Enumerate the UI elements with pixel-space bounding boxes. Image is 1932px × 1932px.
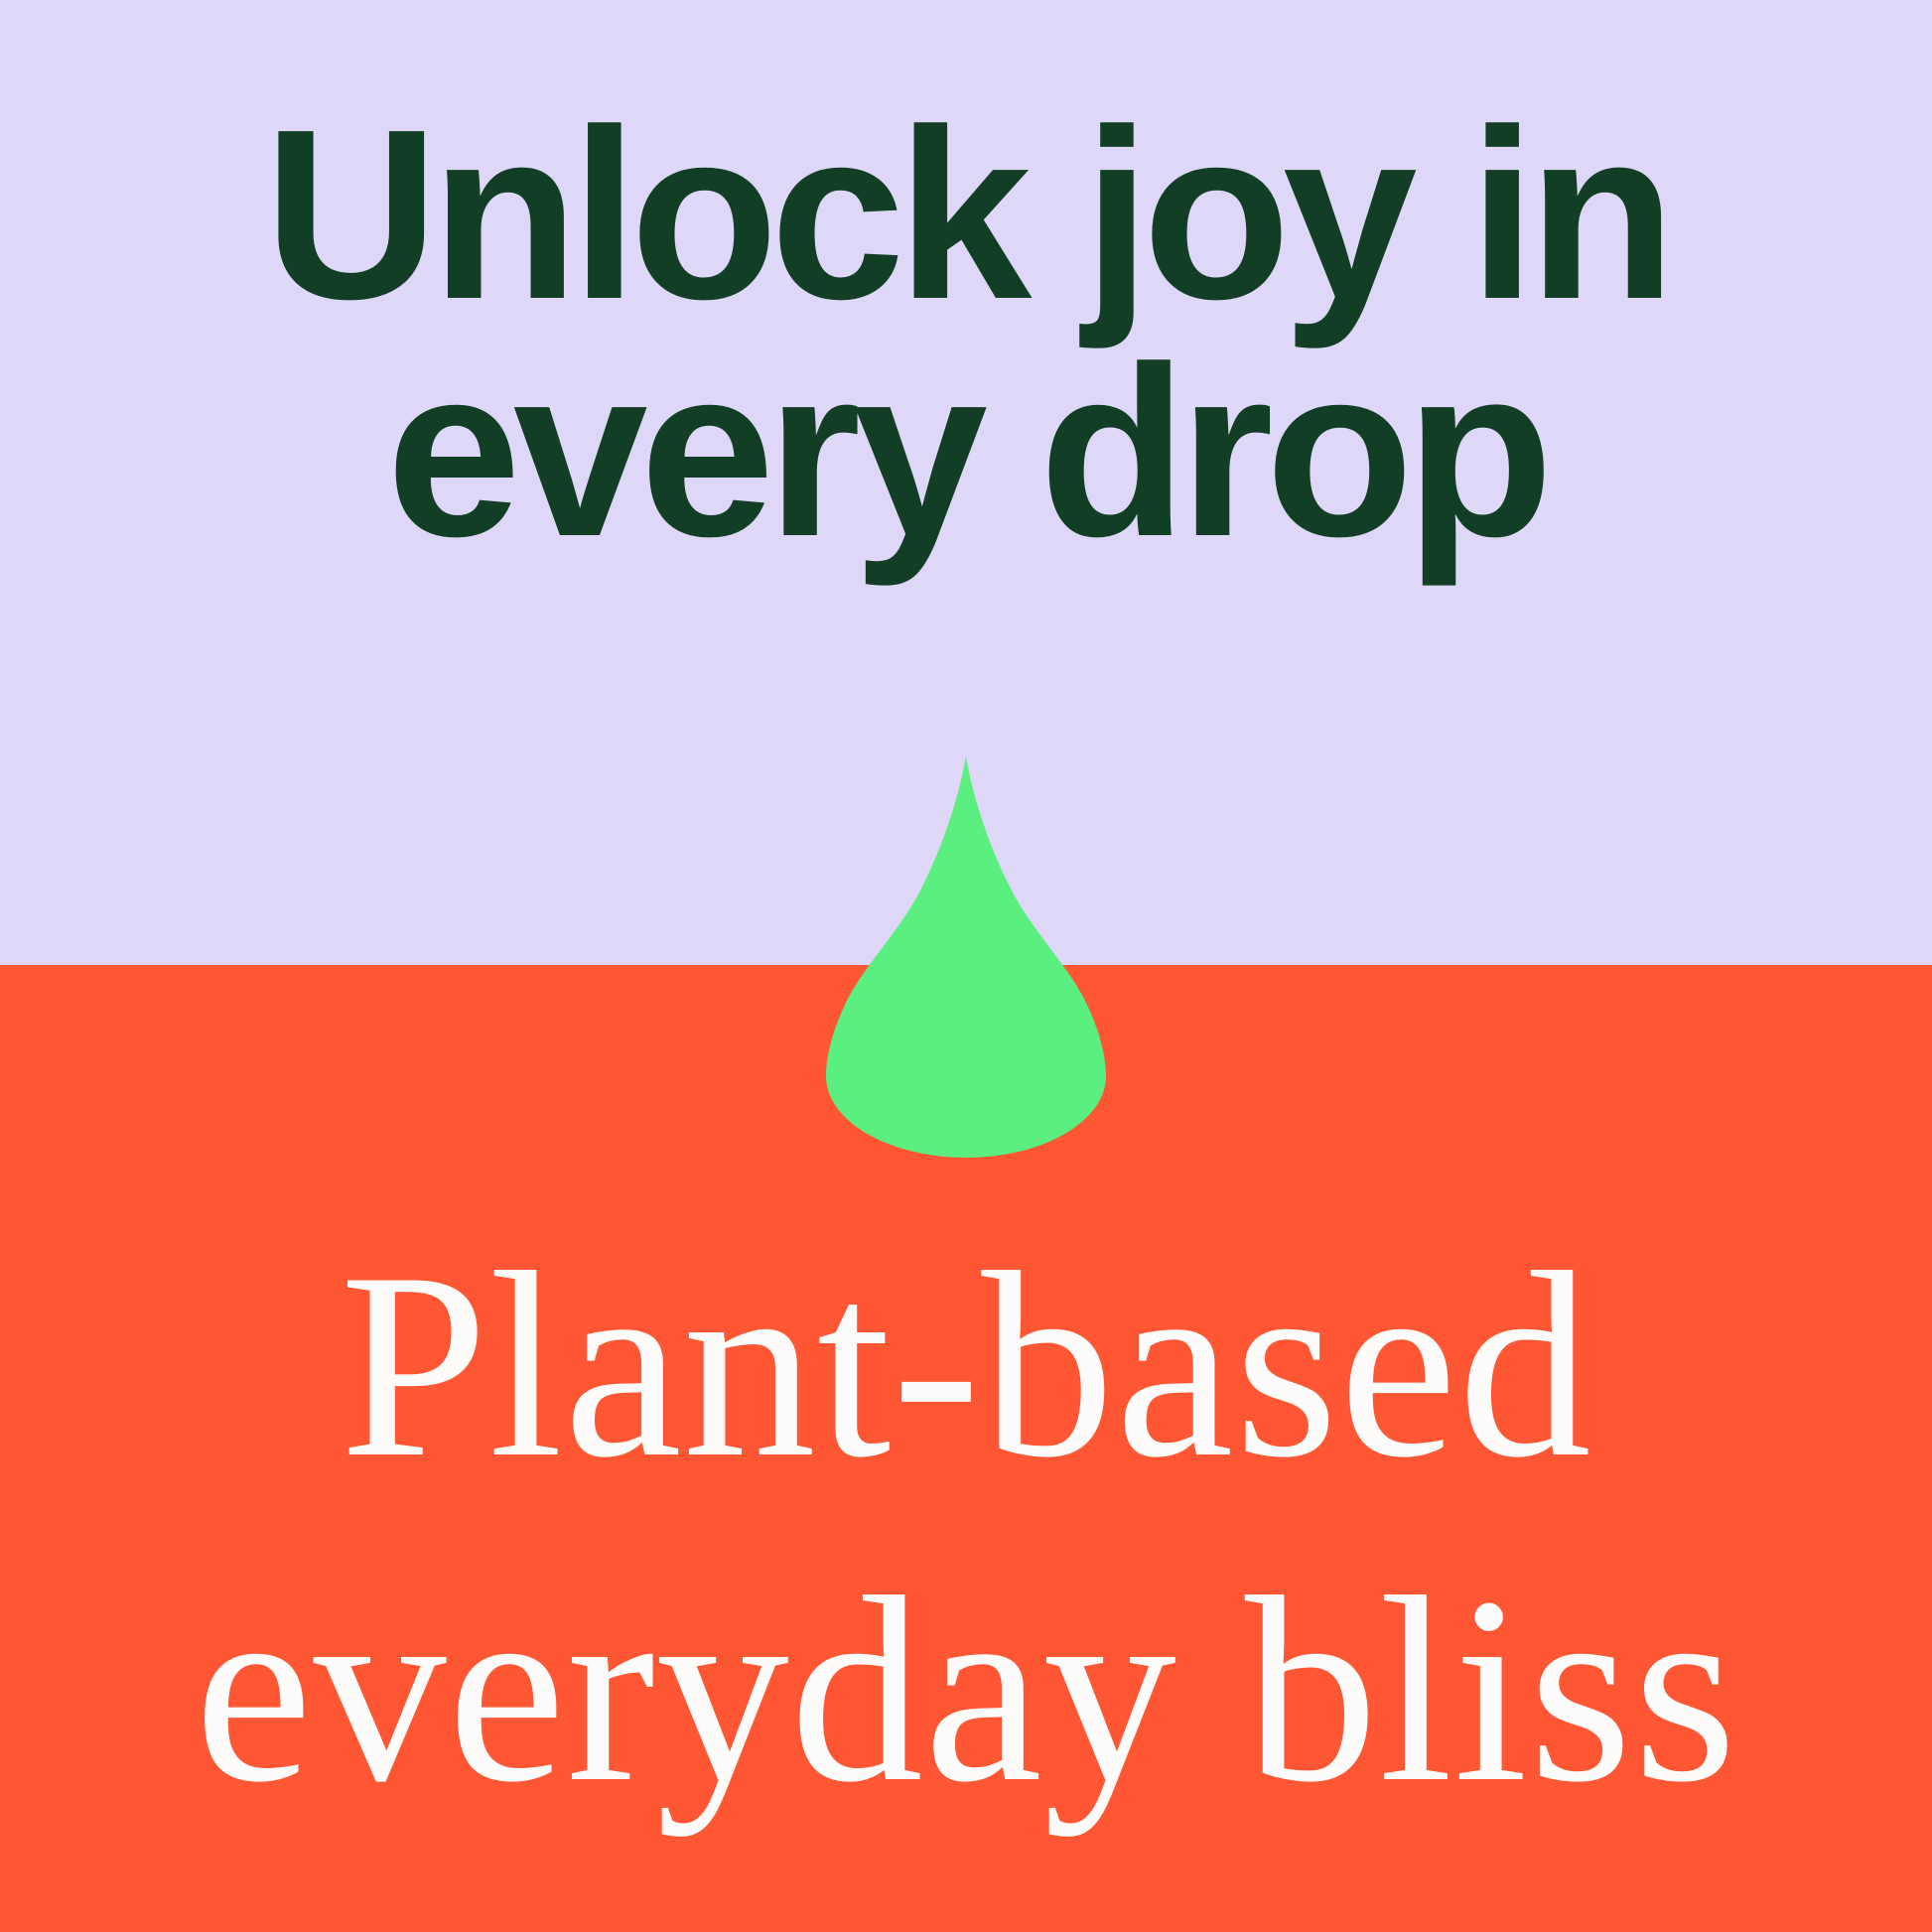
- water-droplet-icon: [826, 757, 1106, 1158]
- subhead-line-1: Plant-based: [0, 1203, 1932, 1528]
- headline: Unlock joy in every drop: [0, 95, 1932, 570]
- headline-line-1: Unlock joy in: [0, 95, 1932, 333]
- subhead: Plant-based everyday bliss: [0, 1203, 1932, 1853]
- headline-line-2: every drop: [0, 333, 1932, 570]
- subhead-line-2: everyday bliss: [0, 1528, 1932, 1853]
- promo-poster: Unlock joy in every drop Plant-based eve…: [0, 0, 1932, 1932]
